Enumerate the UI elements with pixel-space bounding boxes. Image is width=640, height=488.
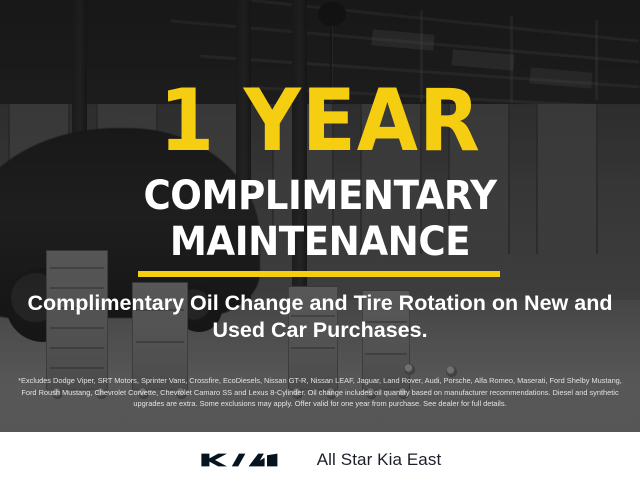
legal-disclaimer: *Excludes Dodge Viper, SRT Motors, Sprin…: [16, 375, 624, 410]
offer-tagline: Complimentary Oil Change and Tire Rotati…: [18, 290, 622, 344]
headline-maintenance: MAINTENANCE: [22, 222, 617, 262]
yellow-divider-bar: [138, 271, 500, 277]
kia-logo: [199, 447, 295, 473]
banner-content: 1 YEAR COMPLIMENTARY MAINTENANCE Complim…: [0, 0, 640, 432]
dealer-name: All Star Kia East: [317, 450, 442, 470]
brand-footer: All Star Kia East: [0, 432, 640, 488]
headline-year: 1 YEAR: [26, 78, 615, 164]
headline-complimentary: COMPLIMENTARY: [22, 176, 617, 216]
promo-banner: 1 YEAR COMPLIMENTARY MAINTENANCE Complim…: [0, 0, 640, 488]
